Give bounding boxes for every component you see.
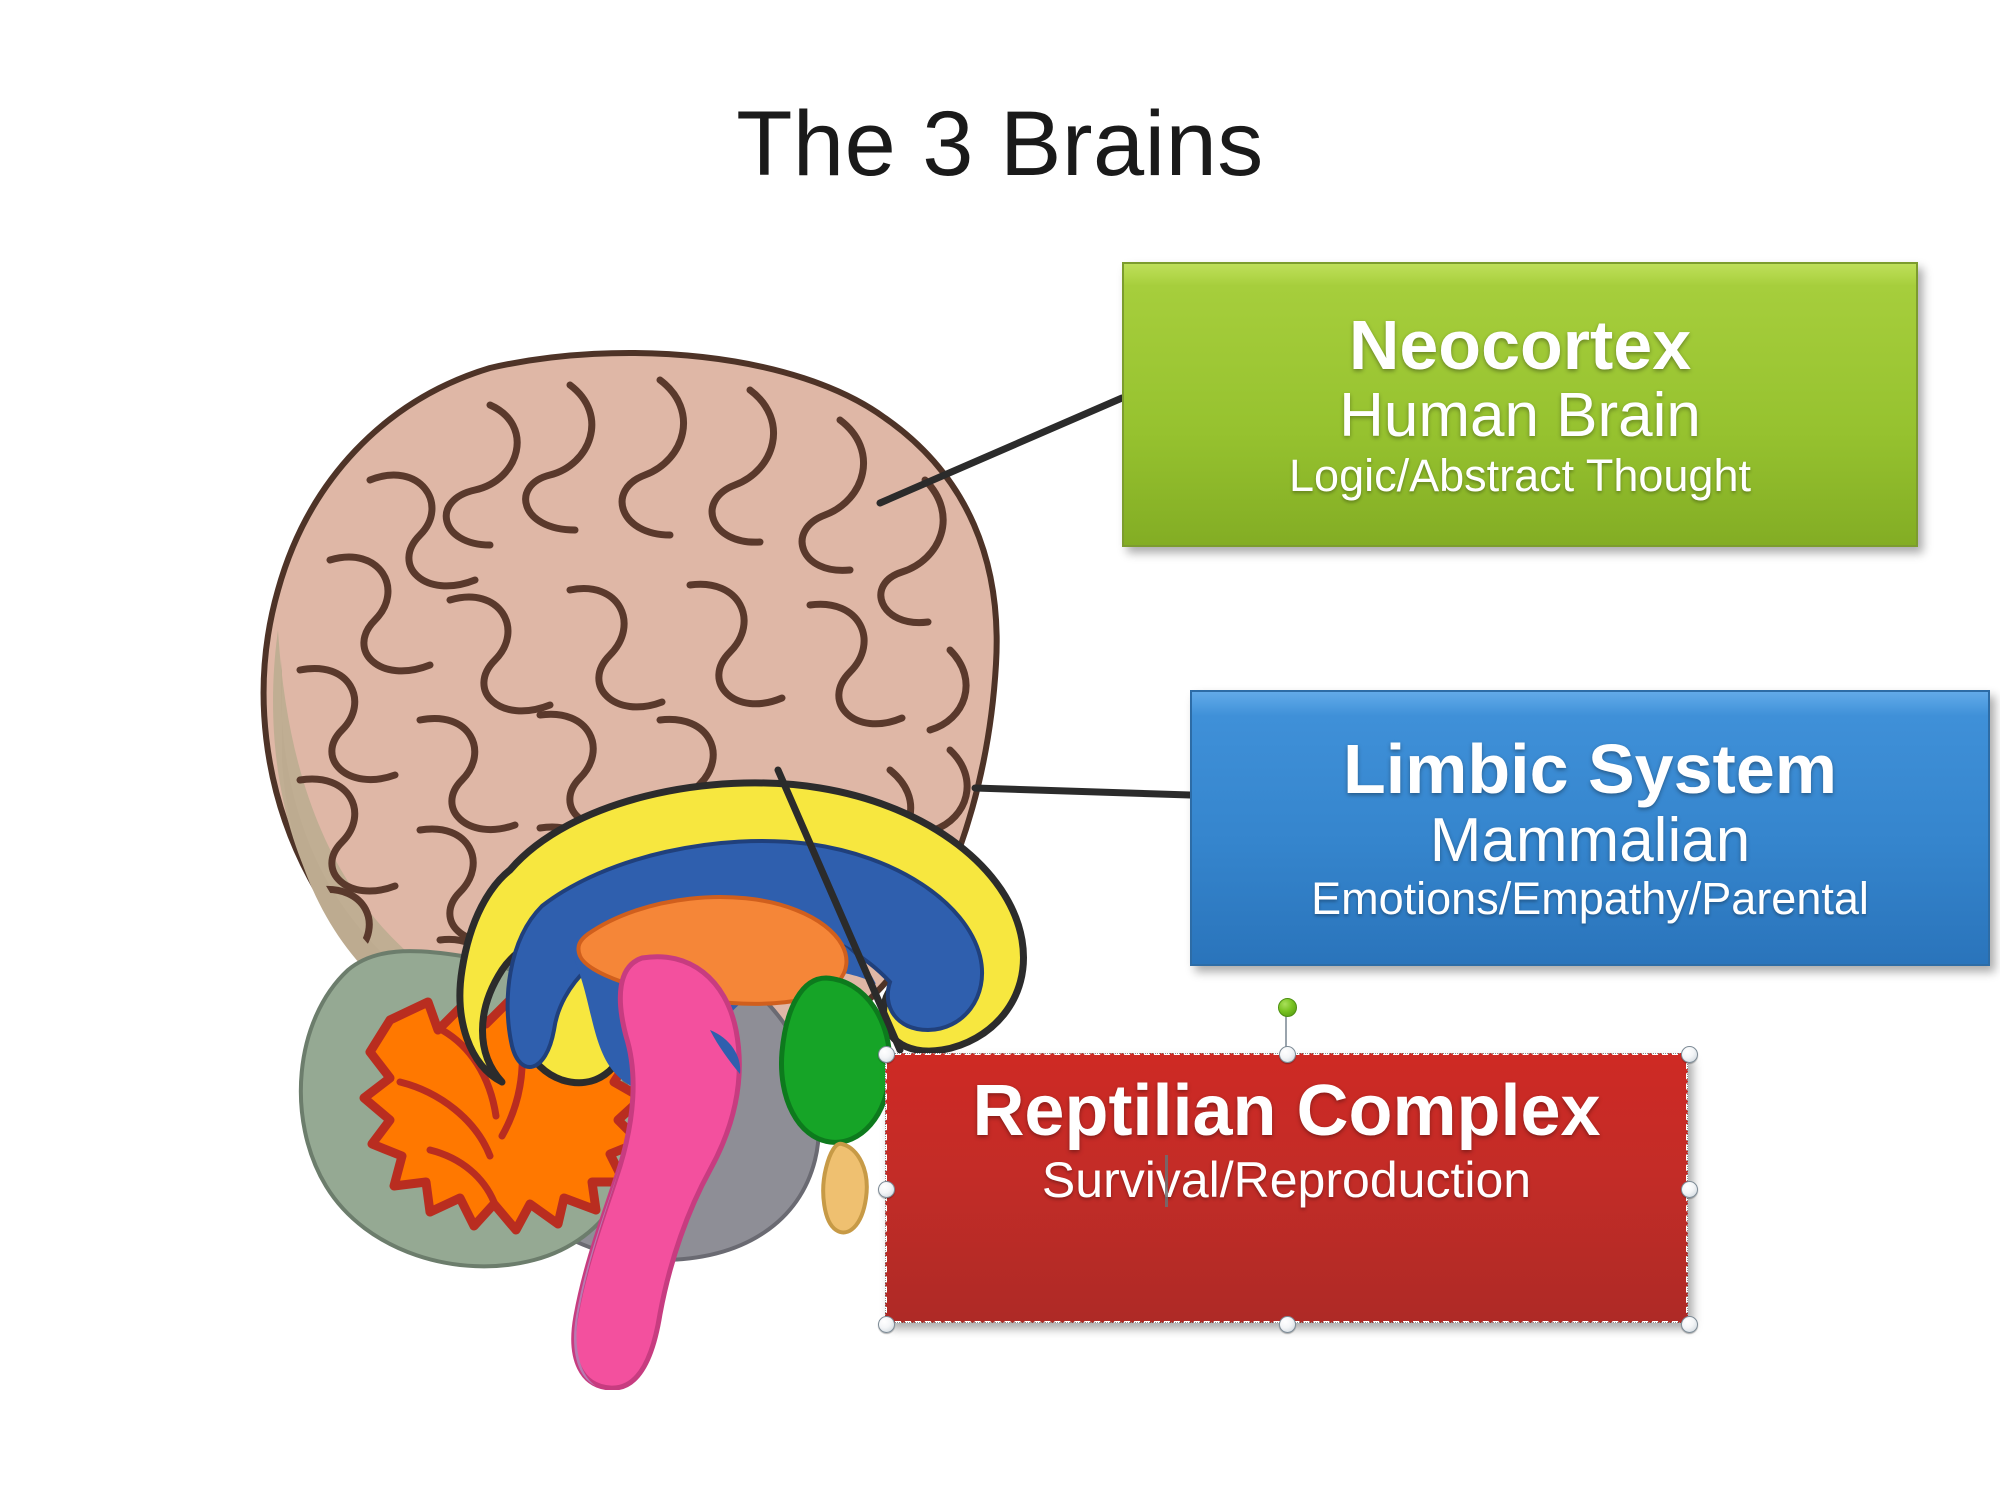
- resize-handle-middle-left[interactable]: [878, 1181, 895, 1198]
- callout-limbic-subtitle: Mammalian: [1430, 808, 1750, 873]
- resize-handle-bottom-left[interactable]: [878, 1316, 895, 1333]
- resize-handle-top-right[interactable]: [1681, 1046, 1698, 1063]
- resize-handle-middle-right[interactable]: [1681, 1181, 1698, 1198]
- callout-limbic-title: Limbic System: [1343, 734, 1837, 805]
- resize-handle-top-left[interactable]: [878, 1046, 895, 1063]
- powerpoint-slide: The 3 Brains: [0, 0, 2000, 1503]
- callout-neocortex-functions: Logic/Abstract Thought: [1289, 452, 1751, 499]
- resize-handle-bottom-right[interactable]: [1681, 1316, 1698, 1333]
- callout-neocortex-subtitle: Human Brain: [1339, 383, 1701, 448]
- callout-limbic-system[interactable]: Limbic System Mammalian Emotions/Empathy…: [1190, 690, 1990, 966]
- hypothalamus-structure: [823, 1144, 867, 1233]
- rotation-handle[interactable]: [1278, 998, 1297, 1017]
- resize-handle-bottom-center[interactable]: [1279, 1316, 1296, 1333]
- callout-limbic-functions: Emotions/Empathy/Parental: [1311, 875, 1869, 922]
- amygdala-structure: [781, 978, 890, 1142]
- callout-reptilian-title: Reptilian Complex: [972, 1075, 1600, 1148]
- page-title: The 3 Brains: [0, 96, 2000, 193]
- text-cursor-caret: [1165, 1155, 1168, 1207]
- callout-neocortex-title: Neocortex: [1349, 310, 1691, 381]
- callout-neocortex[interactable]: Neocortex Human Brain Logic/Abstract Tho…: [1122, 262, 1918, 547]
- resize-handle-top-center[interactable]: [1279, 1046, 1296, 1063]
- callout-reptilian-functions: Survival/Reproduction: [1042, 1154, 1531, 1207]
- callout-reptilian-complex[interactable]: Reptilian Complex Survival/Reproduction: [885, 1053, 1688, 1323]
